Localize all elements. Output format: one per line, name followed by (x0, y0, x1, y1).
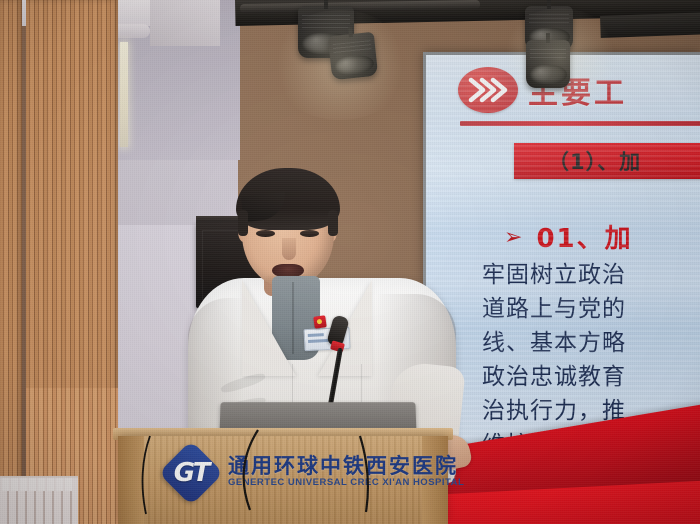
slide-body-line: 政治忠诚教育 (482, 360, 626, 394)
podium-left-edge (118, 436, 144, 524)
presenter-hair (236, 168, 340, 230)
presenter-eye (300, 230, 319, 237)
slide-section-banner-text: （1）、加 (548, 146, 641, 176)
hospital-logo-monogram: GT (168, 452, 214, 494)
presenter-sideburn (328, 210, 338, 236)
slide-bullet-heading: 01、加 (536, 218, 632, 255)
slide-section-banner: （1）、加 (514, 143, 700, 179)
arrow-bullet-icon: ➢ (504, 226, 522, 248)
slide-bullet-row: ➢ 01、加 (504, 218, 633, 255)
window-light-slit (120, 42, 128, 147)
hospital-name-en: GENERTEC UNIVERSAL CREC XI'AN HOSPITAL (228, 477, 464, 488)
ceiling-truss-secondary (600, 13, 700, 38)
par-light (328, 32, 378, 81)
wood-slat-panel-left (0, 0, 22, 524)
slide-body-line: 牢固树立政治 (482, 258, 626, 292)
slide-body-line: 线、基本方略 (482, 326, 626, 360)
double-chevron-right-icon (458, 67, 518, 113)
slide-body-line: 道路上与党的 (482, 292, 626, 326)
radiator (0, 476, 78, 524)
photo-scene: 主要工 （1）、加 ➢ 01、加 牢固树立政治 道路上与党的 线、基本方略 政治… (0, 0, 700, 524)
par-light (526, 40, 570, 88)
party-emblem-pin (313, 315, 327, 329)
hospital-name-cn: 通用环球中铁西安医院 (228, 450, 458, 480)
presenter-eye (256, 230, 275, 237)
slide-title-underline (460, 121, 700, 126)
ceiling-corner (150, 0, 220, 46)
lab-coat-lapel (242, 280, 296, 376)
presenter-nose (282, 238, 296, 260)
presenter-sideburn (238, 210, 248, 236)
